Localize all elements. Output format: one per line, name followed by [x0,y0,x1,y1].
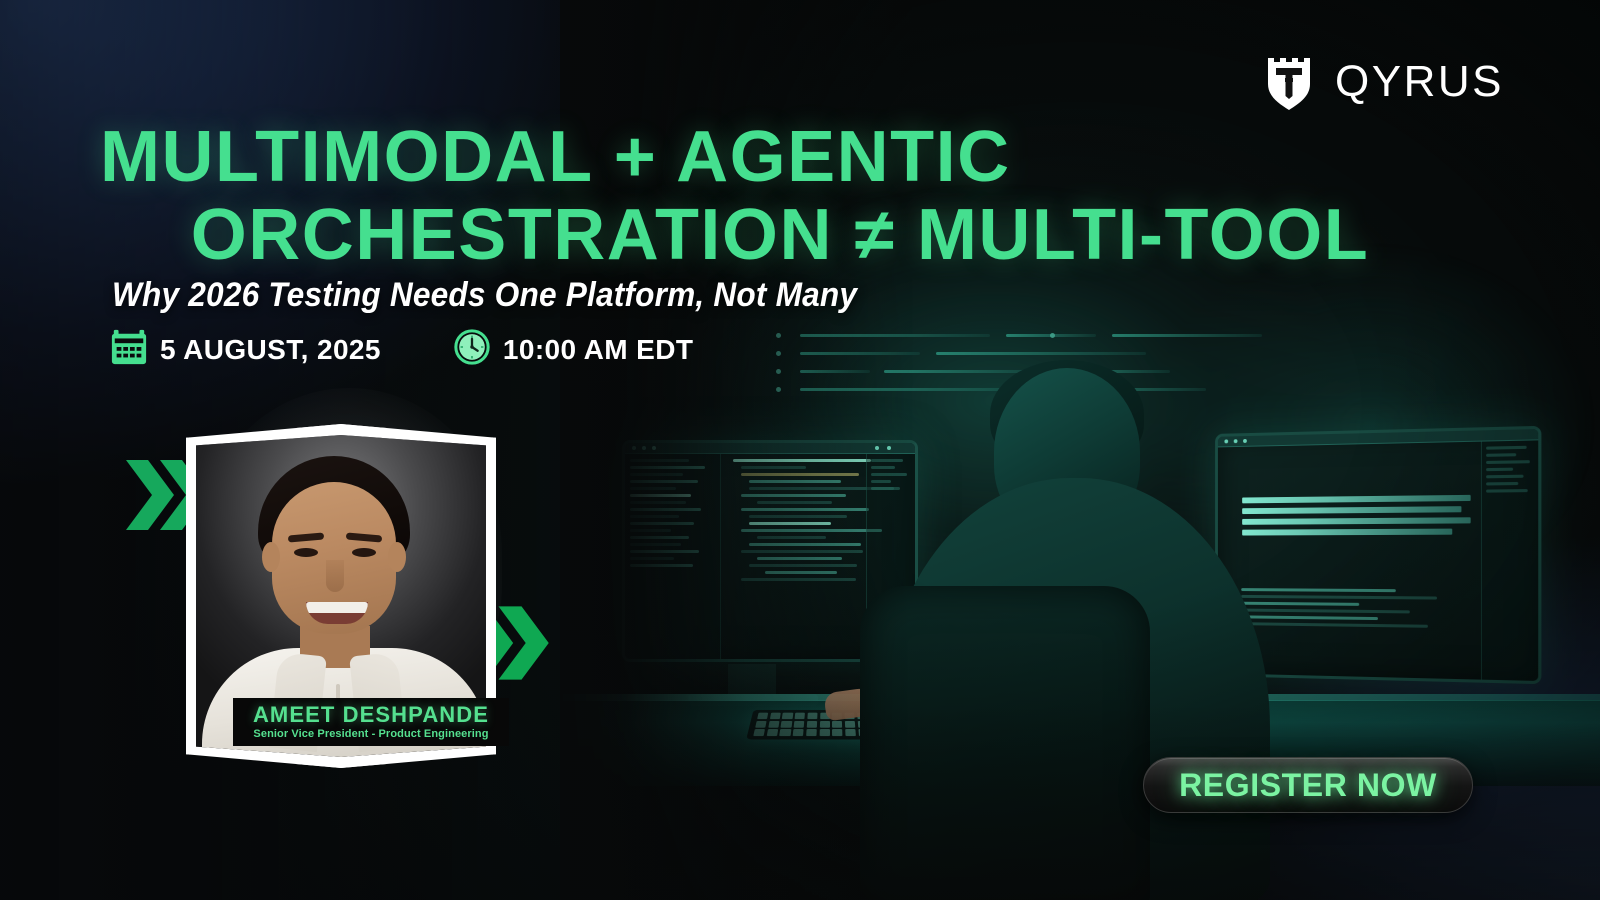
event-time-text: 10:00 AM EDT [503,334,693,366]
shield-t-icon [1265,54,1313,110]
calendar-icon [110,328,148,371]
subtitle: Why 2026 Testing Needs One Platform, Not… [112,276,857,315]
logo-wordmark: QYRUS [1335,57,1504,107]
event-time: 10:00 AM EDT [453,328,693,371]
webinar-banner: QYRUS MULTIMODAL + AGENTIC ORCHESTRATION… [0,0,1600,900]
speaker-role: Senior Vice President - Product Engineer… [253,727,488,741]
speaker-name: AMEET DESHPANDE [253,703,489,727]
headline-line-2: ORCHESTRATION ≠ MULTI-TOOL [100,196,1460,274]
headline-line-1: MULTIMODAL + AGENTIC [100,118,1500,196]
speaker-nameplate: AMEET DESHPANDE Senior Vice President - … [233,698,509,746]
brand-logo[interactable]: QYRUS [1265,54,1504,110]
register-now-label: REGISTER NOW [1179,767,1437,804]
register-now-button[interactable]: REGISTER NOW [1143,757,1473,813]
event-meta-row: 5 AUGUST, 2025 1 [110,328,693,371]
event-date-text: 5 AUGUST, 2025 [160,334,381,366]
event-date: 5 AUGUST, 2025 [110,328,381,371]
clock-icon [453,328,491,371]
headline: MULTIMODAL + AGENTIC ORCHESTRATION ≠ MUL… [100,118,1500,274]
